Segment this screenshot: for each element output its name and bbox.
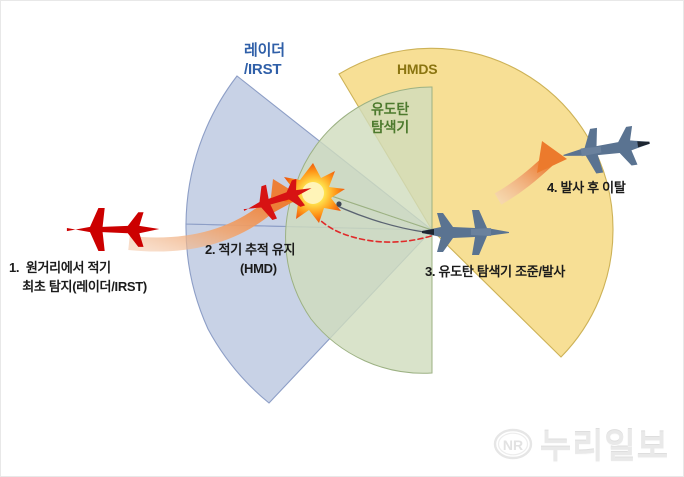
step-callout-2: 2. 적기 추적 유지 (HMD) bbox=[205, 241, 295, 279]
step-callout-4: 4. 발사 후 이탈 bbox=[547, 179, 625, 198]
nr-circle-logo-icon: NR bbox=[493, 424, 533, 464]
diagram-canvas: 레이더 /IRST HMDS 유도탄 탐색기 1. 원거리에서 적기 최초 탐지… bbox=[0, 0, 684, 477]
sector-label-missile-seeker: 유도탄 탐색기 bbox=[371, 101, 409, 137]
watermark-text: 누리일보 bbox=[540, 419, 669, 468]
step-callout-3: 3. 유도탄 탐색기 조준/발사 bbox=[425, 263, 565, 282]
engagement-diagram-svg bbox=[1, 1, 684, 477]
step-callout-1: 1. 원거리에서 적기 최초 탐지(레이더/IRST) bbox=[9, 259, 147, 297]
watermark: NR 누리일보 bbox=[493, 419, 669, 468]
sector-label-hmds: HMDS bbox=[397, 61, 437, 79]
nr-logo-text: NR bbox=[503, 437, 523, 453]
sector-label-radar-irst: 레이더 /IRST bbox=[244, 41, 285, 79]
